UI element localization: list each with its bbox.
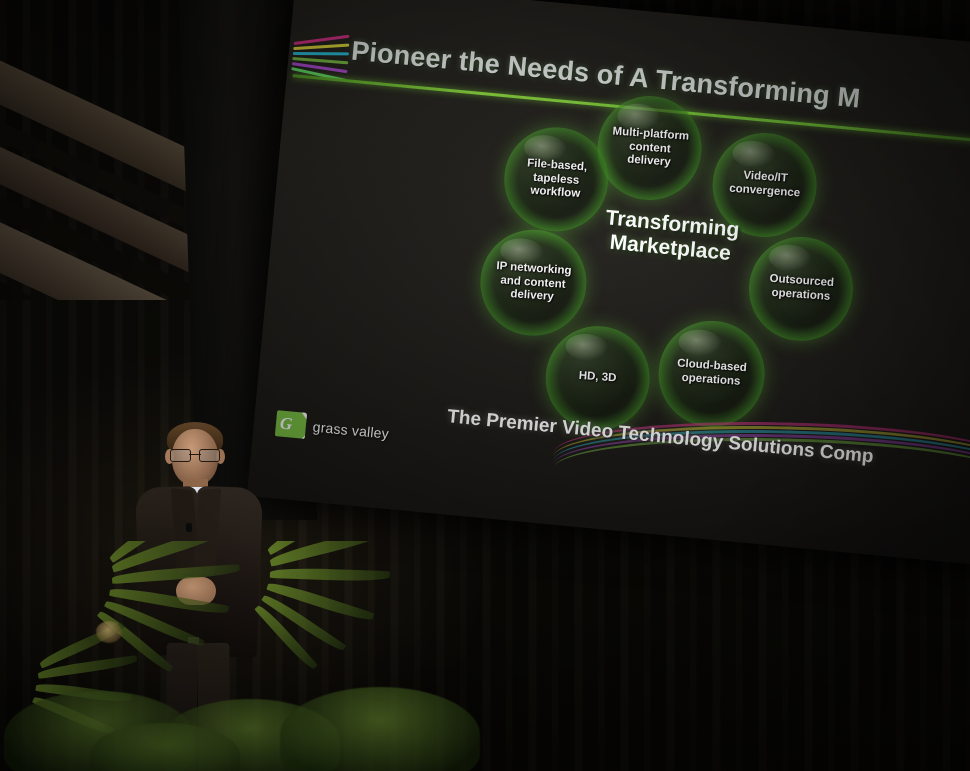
bubble-line: content: [628, 140, 670, 155]
lapel-microphone-icon: [186, 523, 192, 532]
bubble-line: convergence: [728, 183, 800, 200]
bubble-line: HD, 3D: [579, 370, 617, 385]
bubble-ip-networking: IP networking and content delivery: [476, 225, 592, 341]
bubble-line: operations: [681, 372, 740, 388]
presentation-photo: Pioneer the Needs of A Transforming M Mu…: [0, 0, 970, 771]
bubble-line: operations: [771, 287, 830, 303]
bubble-cloud-based: Cloud-based operations: [654, 316, 770, 432]
projection-screen: Pioneer the Needs of A Transforming M Mu…: [247, 0, 970, 567]
bubble-line: tapeless: [533, 171, 580, 186]
bubble-multi-platform: Multi-platform content delivery: [593, 91, 706, 204]
logo-wordmark: grass valley: [312, 419, 389, 442]
ribbon-graphic-icon: [291, 40, 350, 75]
bubble-line: delivery: [627, 153, 671, 168]
stage-plants: [0, 541, 560, 771]
bubble-line: Multi-platform: [612, 125, 689, 142]
bubble-line: delivery: [510, 288, 554, 303]
bubble-line: workflow: [530, 184, 581, 199]
eyeglasses-icon: [170, 449, 220, 460]
bubble-outsourced: Outsourced operations: [744, 232, 857, 345]
